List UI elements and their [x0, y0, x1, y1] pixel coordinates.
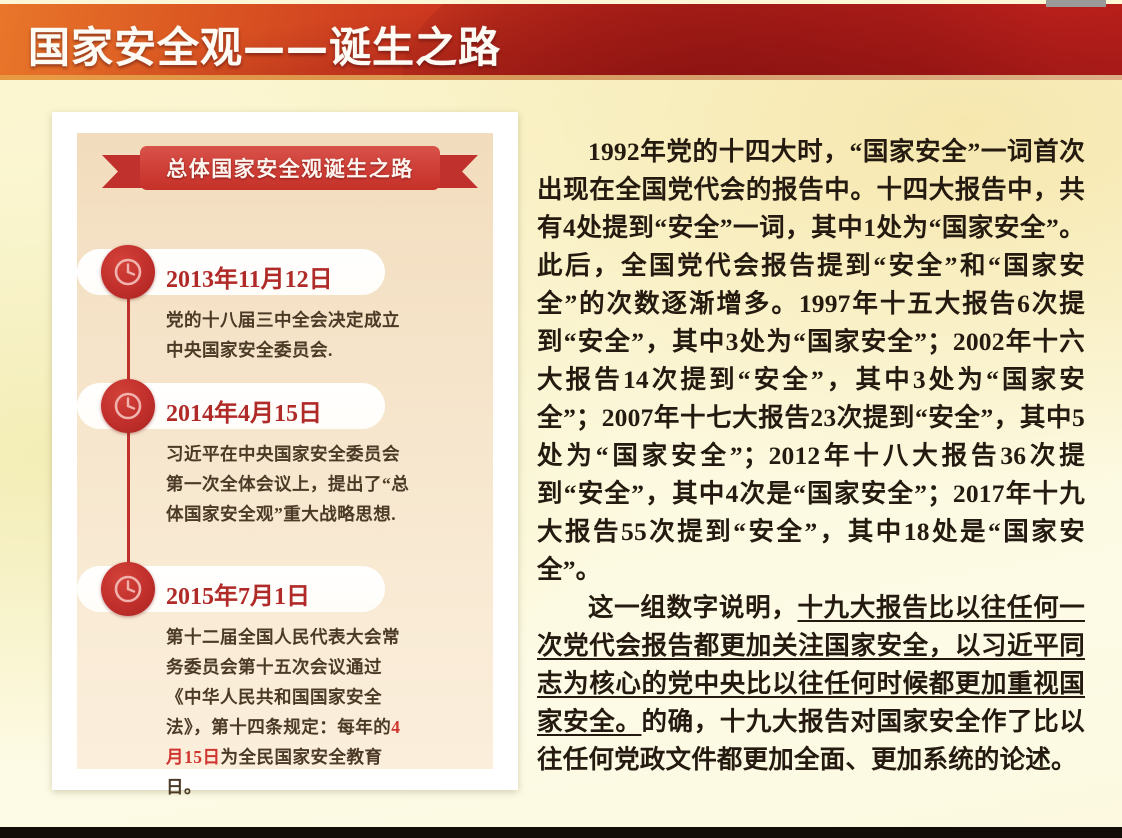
timeline-connector-line — [127, 285, 130, 597]
ribbon-label: 总体国家安全观诞生之路 — [166, 153, 414, 183]
timeline-body-2-part-0: 习近平在中央国家安全委员会第一次全体会议上，提出了“总体国家安全观”重大战略思想… — [166, 444, 409, 524]
ribbon-body: 总体国家安全观诞生之路 — [140, 146, 440, 190]
article-p2-lead: 这一组数字说明， — [588, 593, 797, 622]
bottom-edge-artifact — [0, 827, 1122, 838]
page-title: 国家安全观——诞生之路 — [28, 14, 501, 75]
clock-icon-1 — [101, 245, 155, 299]
timeline-body-1: 党的十八届三中全会决定成立中央国家安全委员会. — [166, 305, 410, 365]
timeline-body-2: 习近平在中央国家安全委员会第一次全体会议上，提出了“总体国家安全观”重大战略思想… — [166, 439, 410, 529]
top-edge-artifact — [1046, 0, 1106, 7]
article-paragraph-1: 1992年党的十四大时，“国家安全”一词首次出现在全国党代会的报告中。十四大报告… — [537, 133, 1085, 589]
clock-icon-2 — [101, 379, 155, 433]
slide-root: 国家安全观——诞生之路 总体国家安全观诞生之路 2013年11月12日 党的十八… — [0, 0, 1122, 838]
timeline-body-3: 第十二届全国人民代表大会常务委员会第十五次会议通过《中华人民共和国国家安全法》，… — [166, 622, 410, 802]
article-column: 1992年党的十四大时，“国家安全”一词首次出现在全国党代会的报告中。十四大报告… — [537, 133, 1085, 779]
header-band: 国家安全观——诞生之路 — [0, 4, 1122, 80]
timeline-date-1: 2013年11月12日 — [166, 259, 333, 294]
timeline-date-2: 2014年4月15日 — [166, 393, 322, 428]
timeline-date-3: 2015年7月1日 — [166, 576, 310, 611]
ribbon-banner: 总体国家安全观诞生之路 — [102, 146, 478, 196]
clock-icon-3 — [101, 562, 155, 616]
timeline-body-3-part-0: 第十二届全国人民代表大会常务委员会第十五次会议通过《中华人民共和国国家安全法》，… — [166, 627, 400, 737]
article-paragraph-2: 这一组数字说明，十九大报告比以往任何一次党代会报告都更加关注国家安全，以习近平同… — [537, 589, 1085, 779]
timeline-body-1-part-0: 党的十八届三中全会决定成立中央国家安全委员会. — [166, 310, 400, 360]
